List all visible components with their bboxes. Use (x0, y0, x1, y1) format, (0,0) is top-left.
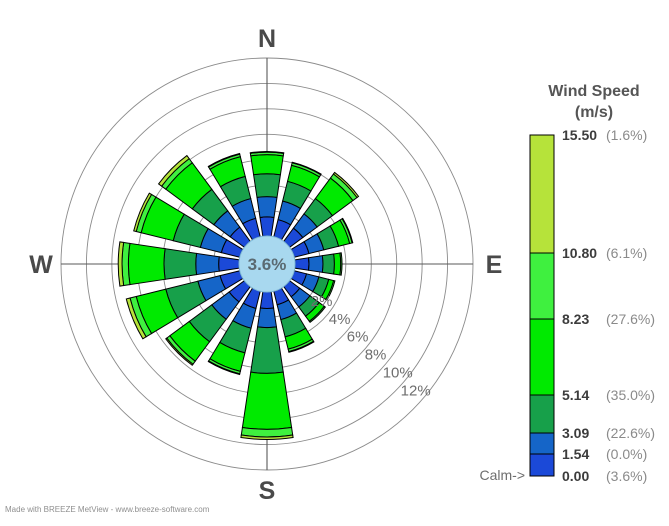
ring-label-4: 4% (329, 311, 351, 328)
legend-percent-15.50: (1.6%) (606, 127, 647, 143)
legend-swatch-3.09 (530, 433, 554, 454)
legend-percent-1.54: (0.0%) (606, 446, 647, 462)
calm-center-label: 3.6% (248, 255, 287, 274)
legend-title-line2: (m/s) (575, 104, 613, 121)
calm-circle-group: 3.6% (239, 236, 295, 292)
legend-swatch-5.14 (530, 395, 554, 433)
ring-labels: 2%4%6%8%10%12% (311, 293, 431, 400)
legend-percent-0.00: (3.6%) (606, 468, 647, 484)
legend-color-bar (530, 135, 554, 476)
windrose-page: 3.6% 2%4%6%8%10%12% N E S W Wind Speed (… (0, 0, 669, 526)
watermark-text: Made with BREEZE MetView - www.breeze-so… (5, 505, 209, 514)
legend-value-1.54: 1.54 (562, 446, 589, 462)
ring-label-12: 12% (401, 383, 431, 400)
legend-swatch-15.50 (530, 135, 554, 253)
ring-label-6: 6% (347, 329, 369, 346)
compass-label-south: S (259, 477, 276, 505)
legend-entries: 15.50(1.6%)10.80(6.1%)8.23(27.6%)5.14(35… (562, 127, 655, 484)
legend-swatch-8.23 (530, 319, 554, 395)
compass-label-west: W (29, 251, 53, 279)
legend-percent-3.09: (22.6%) (606, 425, 655, 441)
windrose-chart: 3.6% 2%4%6%8%10%12% N E S W Wind Speed (… (0, 0, 669, 526)
calm-arrow-label: Calm-> (479, 467, 525, 483)
legend-percent-5.14: (35.0%) (606, 387, 655, 403)
legend-title-line1: Wind Speed (548, 83, 639, 100)
ring-label-2: 2% (311, 293, 333, 310)
legend: Wind Speed (m/s) 15.50(1.6%)10.80(6.1%)8… (479, 83, 655, 484)
legend-value-0.00: 0.00 (562, 468, 589, 484)
compass-label-north: N (258, 25, 276, 53)
legend-value-8.23: 8.23 (562, 311, 589, 327)
legend-swatch-10.80 (530, 253, 554, 319)
legend-value-5.14: 5.14 (562, 387, 589, 403)
legend-swatch-1.54 (530, 454, 554, 476)
legend-percent-10.80: (6.1%) (606, 245, 647, 261)
legend-value-3.09: 3.09 (562, 425, 589, 441)
legend-percent-8.23: (27.6%) (606, 311, 655, 327)
compass-label-east: E (486, 251, 503, 279)
legend-value-15.50: 15.50 (562, 127, 597, 143)
ring-label-10: 10% (383, 365, 413, 382)
ring-label-8: 8% (365, 347, 387, 364)
legend-value-10.80: 10.80 (562, 245, 597, 261)
